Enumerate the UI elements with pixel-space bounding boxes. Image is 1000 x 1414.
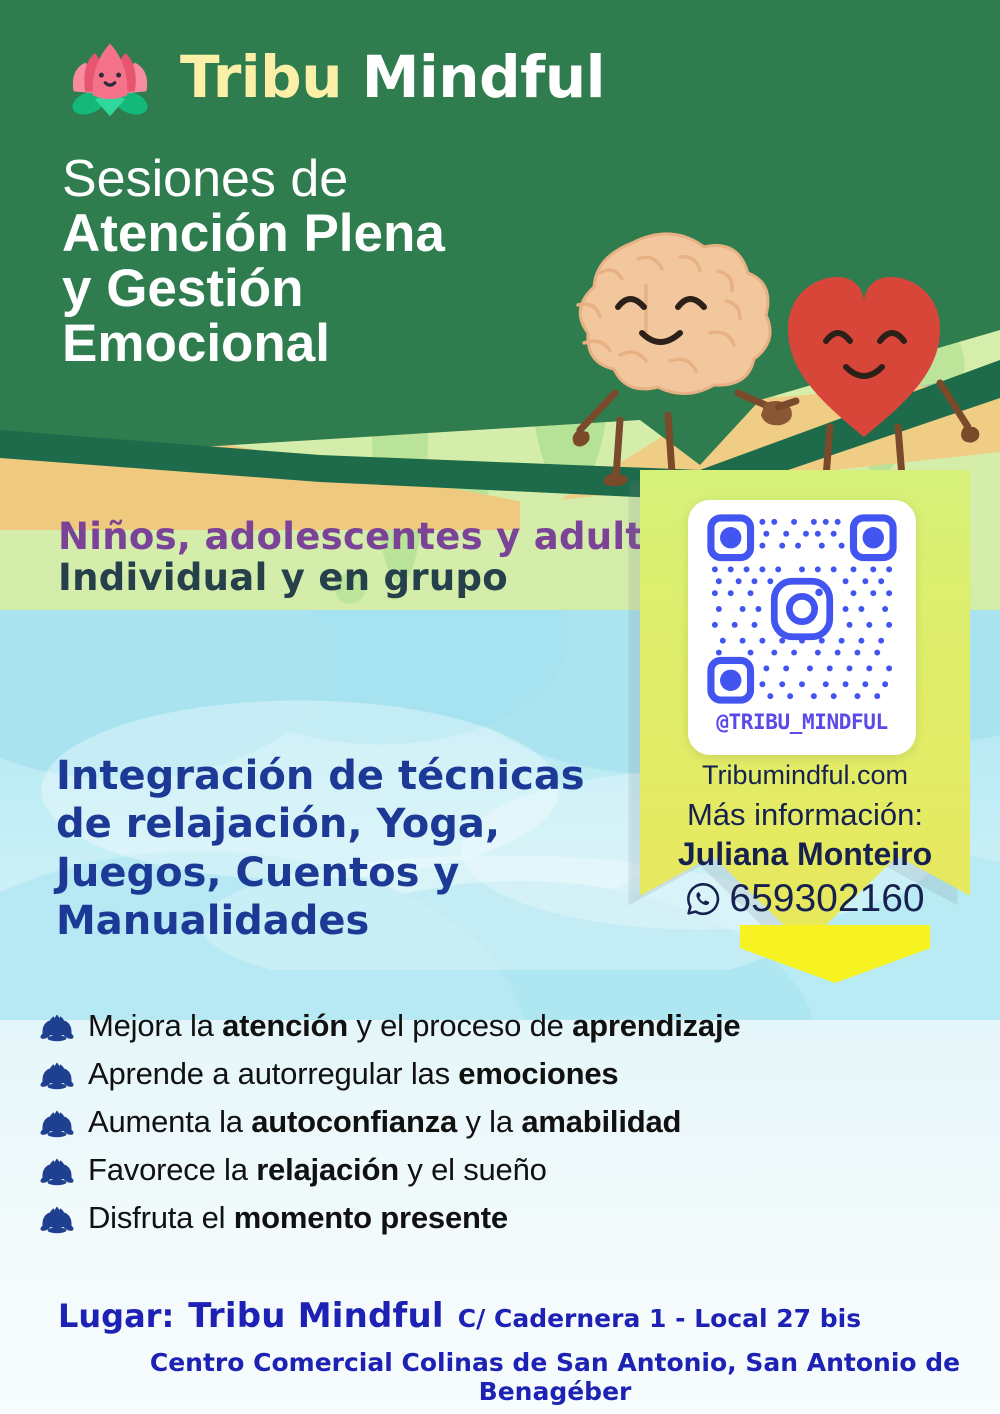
benefits-list: Mejora la atención y el proceso de apren… <box>40 1008 980 1248</box>
venue-name: Tribu Mindful <box>188 1296 444 1336</box>
techniques-line-1: Integración de técnicas <box>56 752 585 800</box>
techniques-heading: Integración de técnicas de relajación, Y… <box>56 752 585 946</box>
brain-character <box>578 234 770 394</box>
title-line-2: Atención Plena <box>62 206 445 261</box>
phone-number: 659302160 <box>729 877 924 921</box>
lotus-bullet-icon <box>40 1204 74 1238</box>
benefit-text: Favorece la relajación y el sueño <box>88 1152 547 1189</box>
phone-row[interactable]: 659302160 <box>645 877 965 921</box>
whatsapp-icon <box>685 881 721 917</box>
lotus-bullet-icon <box>40 1156 74 1190</box>
heart-character <box>788 277 940 437</box>
contact-person-name: Juliana Monteiro <box>645 836 965 873</box>
techniques-line-2: de relajación, Yoga, <box>56 800 585 848</box>
benefit-item: Mejora la atención y el proceso de apren… <box>40 1008 980 1046</box>
benefit-item: Aumenta la autoconfianza y la amabilidad <box>40 1104 980 1142</box>
audience-subheading: Niños, adolescentes y adultos. Individua… <box>58 516 706 599</box>
footer: Lugar: Tribu Mindful C/ Cadernera 1 - Lo… <box>0 1296 1000 1406</box>
benefit-text: Aprende a autorregular las emociones <box>88 1056 618 1093</box>
title-line-1: Sesiones de <box>62 152 445 206</box>
benefit-text: Disfruta el momento presente <box>88 1200 508 1237</box>
mascot-illustration <box>520 215 1000 505</box>
poster-root: Tribu Mindful Sesiones de Atención Plena… <box>0 0 1000 1414</box>
website-text[interactable]: Tribumindful.com <box>645 760 965 791</box>
brand-name-part2: Mindful <box>362 43 605 111</box>
footer-line-1: Lugar: Tribu Mindful C/ Cadernera 1 - Lo… <box>0 1296 1000 1336</box>
title-line-4: Emocional <box>62 316 445 371</box>
benefit-text: Aumenta la autoconfianza y la amabilidad <box>88 1104 681 1141</box>
lotus-bullet-icon <box>40 1108 74 1142</box>
place-label: Lugar: <box>58 1297 174 1335</box>
audience-line-1: Niños, adolescentes y adultos. <box>58 516 706 557</box>
contact-block: Tribumindful.com Más información: Julian… <box>645 760 965 921</box>
techniques-line-4: Manualidades <box>56 897 585 945</box>
lotus-bullet-icon <box>40 1060 74 1094</box>
footer-address-line-2: Centro Comercial Colinas de San Antonio,… <box>0 1348 1000 1406</box>
lotus-flower-icon <box>62 32 158 122</box>
lotus-bullet-icon <box>40 1012 74 1046</box>
page-title: Sesiones de Atención Plena y Gestión Emo… <box>62 152 445 371</box>
qr-card[interactable]: @TRIBU_MINDFUL <box>688 500 916 755</box>
instagram-qr-code[interactable] <box>703 510 901 708</box>
instagram-handle: @TRIBU_MINDFUL <box>716 710 887 734</box>
instagram-icon <box>774 581 829 636</box>
brand-name-part1: Tribu <box>180 43 342 111</box>
brand-logo: Tribu Mindful <box>62 32 605 122</box>
benefit-item: Disfruta el momento presente <box>40 1200 980 1238</box>
techniques-line-3: Juegos, Cuentos y <box>56 849 585 897</box>
brain-left-hand <box>573 430 590 447</box>
benefit-text: Mejora la atención y el proceso de apren… <box>88 1008 740 1045</box>
benefit-item: Aprende a autorregular las emociones <box>40 1056 980 1094</box>
title-line-3: y Gestión <box>62 261 445 316</box>
audience-line-2: Individual y en grupo <box>58 557 706 598</box>
more-info-label: Más información: <box>645 797 965 833</box>
venue-address: C/ Cadernera 1 - Local 27 bis <box>458 1304 861 1333</box>
benefit-item: Favorece la relajación y el sueño <box>40 1152 980 1190</box>
brand-wordmark: Tribu Mindful <box>180 43 605 111</box>
